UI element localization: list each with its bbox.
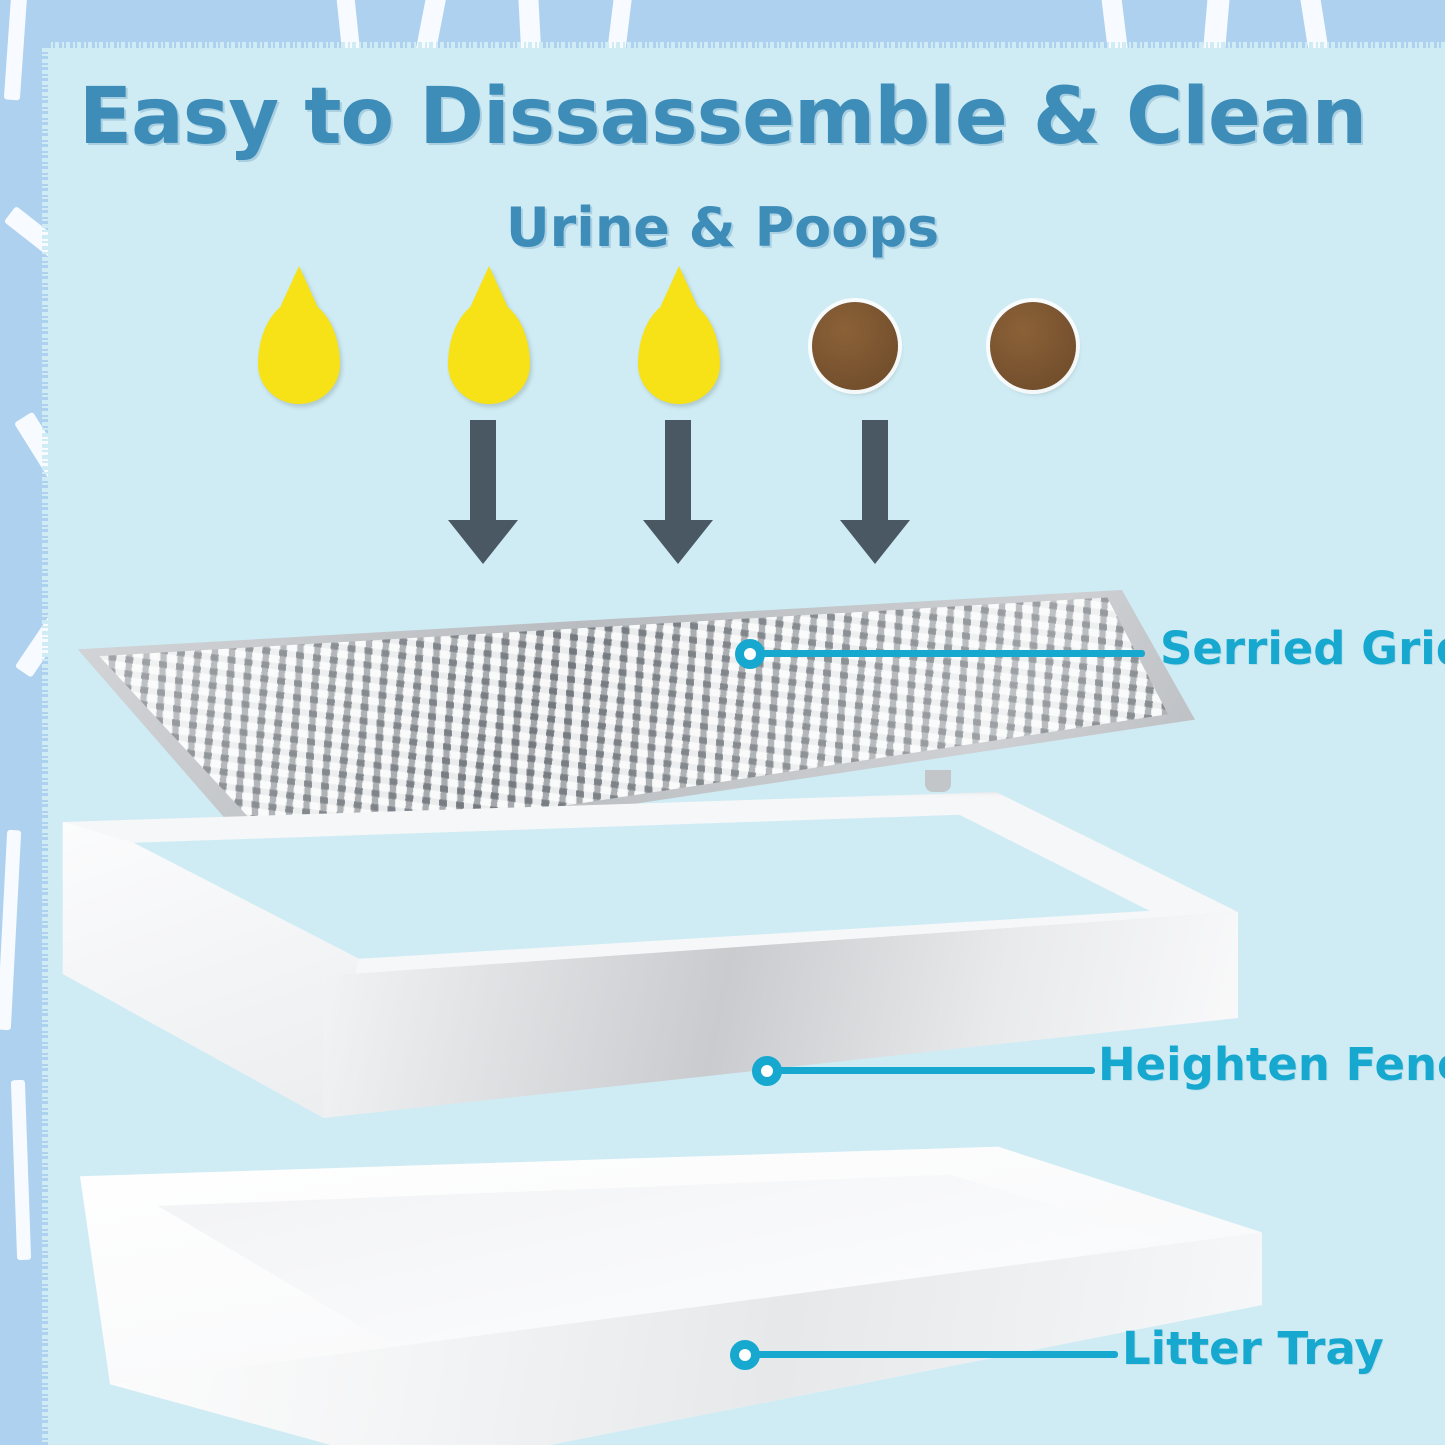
brush-stroke (0, 830, 21, 1030)
callout-marker-litter-tray[interactable] (730, 1340, 760, 1370)
poop-disc-icon (812, 302, 898, 390)
down-arrow-icon (470, 420, 496, 522)
callout-marker-serried-grid[interactable] (735, 639, 765, 669)
page-title: Easy to Dissassemble & Clean (0, 72, 1445, 162)
callout-label-heighten-fence: Heighten Fence (1098, 1038, 1445, 1091)
infographic-canvas: Easy to Dissassemble & Clean Urine & Poo… (0, 0, 1445, 1445)
callout-line-serried-grid (760, 650, 1145, 657)
brush-stroke (11, 1080, 31, 1260)
down-arrow-icon (665, 420, 691, 522)
poop-disc-icon (990, 302, 1076, 390)
heighten-fence-frame (58, 790, 1238, 1190)
callout-line-heighten-fence (777, 1067, 1095, 1074)
callout-line-litter-tray (755, 1351, 1118, 1358)
litter-tray-base (62, 1140, 1262, 1445)
callout-marker-heighten-fence[interactable] (752, 1056, 782, 1086)
callout-label-litter-tray: Litter Tray (1122, 1322, 1384, 1375)
grid-foot (925, 770, 951, 792)
torn-edge-top (48, 42, 1445, 52)
section-subtitle: Urine & Poops (0, 196, 1445, 259)
callout-label-serried-grid: Serried Grid (1160, 622, 1445, 675)
down-arrow-icon (862, 420, 888, 522)
